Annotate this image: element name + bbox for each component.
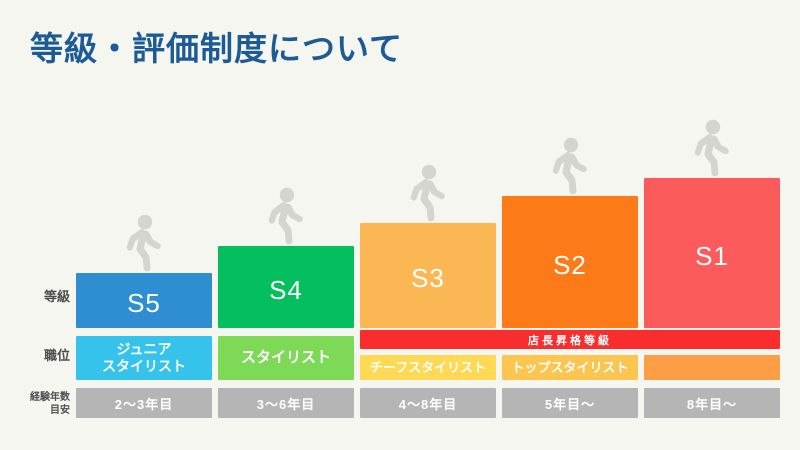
grade-column-s4: S4スタイリスト3〜6年目 bbox=[218, 108, 354, 420]
years-cell-s3: 4〜8年目 bbox=[360, 388, 496, 418]
position-line-1: ジュニア bbox=[102, 341, 186, 358]
grade-bar-s3: S3 bbox=[360, 223, 496, 328]
position-line-1: チーフスタイリスト bbox=[370, 360, 486, 376]
grade-column-s5: S5ジュニアスタイリスト2〜3年目 bbox=[76, 108, 212, 420]
years-zone: 2〜3年目 bbox=[76, 388, 212, 418]
position-line-1: スタイリスト bbox=[241, 349, 331, 367]
walking-person-icon bbox=[263, 186, 309, 246]
bar-zone: S5 bbox=[76, 108, 212, 328]
position-cell-s5: ジュニアスタイリスト bbox=[76, 336, 212, 380]
grade-bar-s2: S2 bbox=[502, 196, 638, 328]
row-label-years-line2: 目安 bbox=[0, 405, 70, 418]
grade-bar-label: S4 bbox=[269, 275, 303, 306]
walking-person-icon bbox=[121, 213, 167, 273]
grade-bar-s5: S5 bbox=[76, 273, 212, 328]
years-zone: 8年目〜 bbox=[644, 388, 780, 418]
years-cell-s5: 2〜3年目 bbox=[76, 388, 212, 418]
years-cell-s2: 5年目〜 bbox=[502, 388, 638, 418]
walking-person-icon bbox=[547, 136, 593, 196]
years-cell-s4: 3〜6年目 bbox=[218, 388, 354, 418]
grade-bar-label: S2 bbox=[553, 250, 587, 281]
grade-bar-label: S5 bbox=[127, 288, 161, 319]
row-label-position: 職位 bbox=[0, 348, 70, 364]
grade-bar-s1: S1 bbox=[644, 178, 780, 328]
grade-column-s1: S18年目〜 bbox=[644, 108, 780, 420]
position-cell-s1 bbox=[644, 355, 780, 380]
position-line-1: トップスタイリスト bbox=[511, 360, 628, 376]
bar-zone: S4 bbox=[218, 108, 354, 328]
years-zone: 5年目〜 bbox=[502, 388, 638, 418]
position-zone: ジュニアスタイリスト bbox=[76, 336, 212, 380]
position-cell-s3: チーフスタイリスト bbox=[360, 355, 496, 380]
grade-bar-label: S3 bbox=[411, 263, 445, 294]
bar-zone: S1 bbox=[644, 108, 780, 328]
position-zone: スタイリスト bbox=[218, 336, 354, 380]
walking-person-icon bbox=[689, 118, 735, 178]
page-title: 等級・評価制度について bbox=[30, 22, 403, 70]
grade-column-s2: S2トップスタイリスト5年目〜 bbox=[502, 108, 638, 420]
years-zone: 3〜6年目 bbox=[218, 388, 354, 418]
grade-bar-label: S1 bbox=[695, 241, 729, 272]
grade-bar-s4: S4 bbox=[218, 246, 354, 328]
manager-promotion-banner: 店長昇格等級 bbox=[360, 330, 780, 349]
bar-zone: S2 bbox=[502, 108, 638, 328]
years-zone: 4〜8年目 bbox=[360, 388, 496, 418]
row-label-grade: 等級 bbox=[0, 289, 70, 305]
grade-columns: S5ジュニアスタイリスト2〜3年目S4スタイリスト3〜6年目S3チーフスタイリス… bbox=[76, 108, 780, 420]
row-label-years-line1: 経験年数 bbox=[0, 392, 70, 405]
slide-canvas: 等級・評価制度について 等級 職位 経験年数 目安 S5ジュニアスタイリスト2〜… bbox=[0, 0, 800, 450]
position-line-2: スタイリスト bbox=[102, 358, 186, 375]
bar-zone: S3 bbox=[360, 108, 496, 328]
position-cell-s2: トップスタイリスト bbox=[502, 355, 638, 380]
years-cell-s1: 8年目〜 bbox=[644, 388, 780, 418]
walking-person-icon bbox=[405, 163, 451, 223]
position-cell-s4: スタイリスト bbox=[218, 336, 354, 380]
row-label-years: 経験年数 目安 bbox=[0, 392, 70, 417]
grade-column-s3: S3チーフスタイリスト4〜8年目 bbox=[360, 108, 496, 420]
